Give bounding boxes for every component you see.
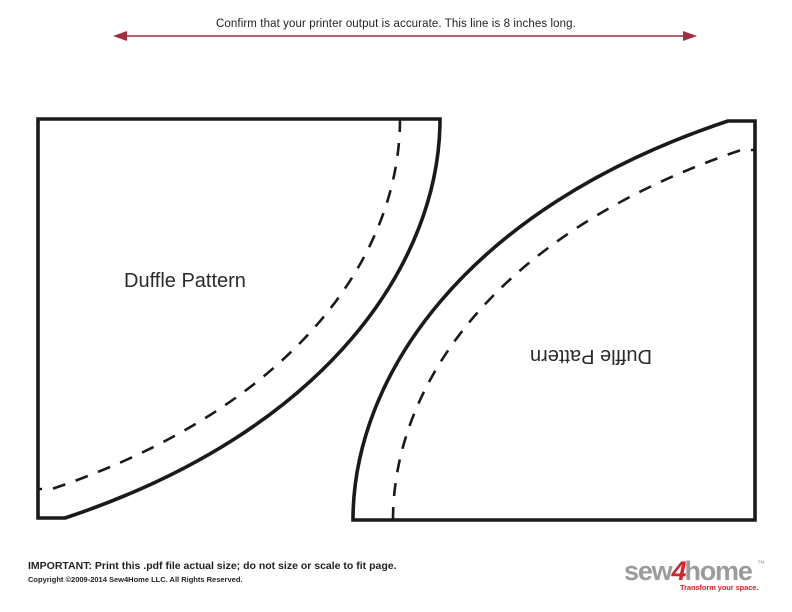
footer-notes: IMPORTANT: Print this .pdf file actual s… [28, 560, 498, 585]
copyright-notice: Copyright ©2009-2014 Sew4Home LLC. All R… [28, 574, 498, 585]
cut-line-right [353, 121, 755, 520]
sew4home-logo: sew4home ™ Transform your space. [624, 556, 772, 598]
cut-line-left [38, 119, 440, 518]
piece-label-left: Duffle Pattern [124, 270, 246, 293]
seam-line-right [393, 150, 755, 520]
logo-text-sew: sew [624, 556, 671, 586]
pattern-piece-right [353, 121, 755, 520]
logo-wordmark: sew4home [624, 556, 752, 586]
logo-text-four: 4 [671, 556, 684, 586]
seam-line-left [38, 119, 400, 489]
logo-text-home: home [684, 556, 751, 586]
pattern-piece-left [38, 119, 440, 518]
pattern-pieces-drawing [0, 0, 792, 612]
piece-label-right: Duffle Pattern [530, 344, 652, 367]
logo-tagline: Transform your space. [680, 583, 758, 592]
print-instruction: IMPORTANT: Print this .pdf file actual s… [28, 560, 498, 573]
trademark-symbol: ™ [757, 559, 765, 568]
pattern-page: Confirm that your printer output is accu… [0, 0, 792, 612]
